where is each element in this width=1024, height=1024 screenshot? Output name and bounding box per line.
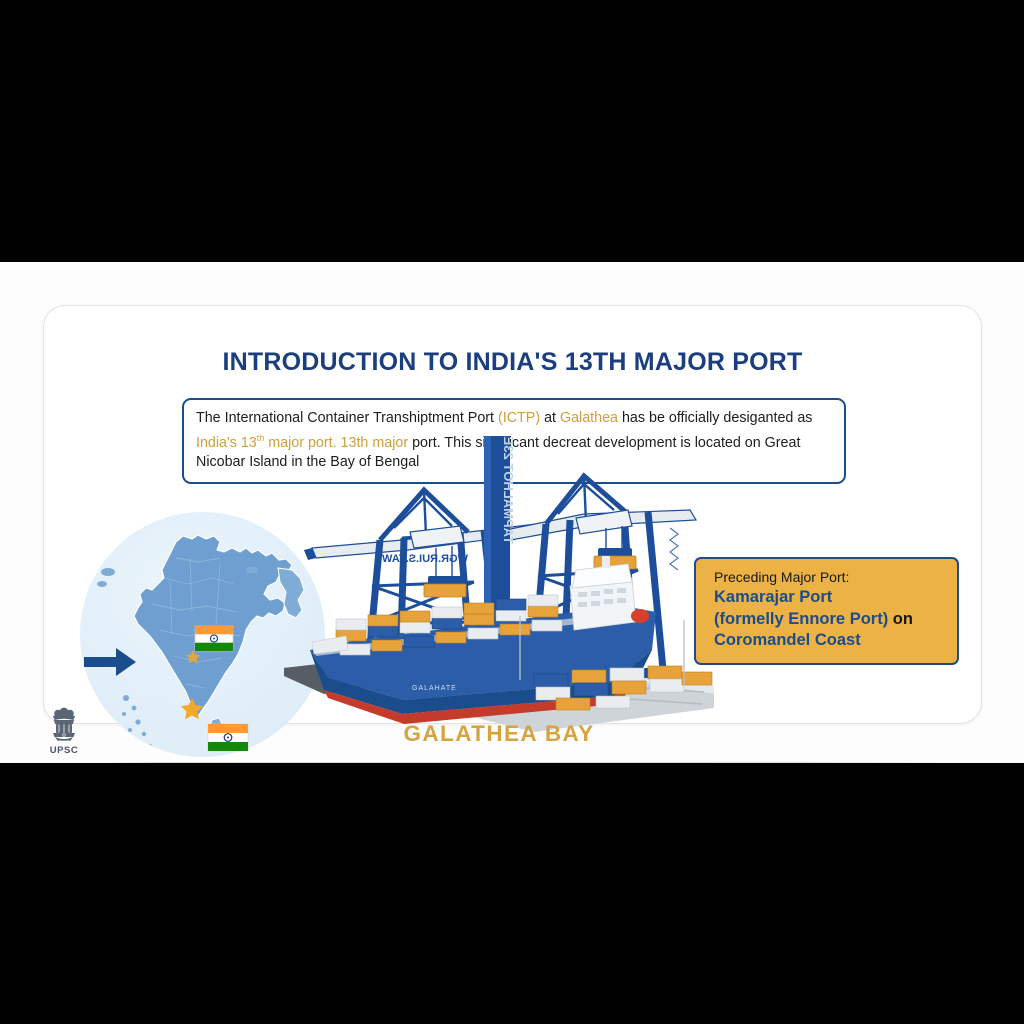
- northwest-islands: [97, 568, 115, 587]
- infographic-card: INTRODUCTION TO INDIA'S 13TH MAJOR PORT …: [43, 305, 982, 724]
- preceding-port-callout: Preceding Major Port: Kamarajar Port (fo…: [694, 557, 959, 665]
- callout-former-name: (formelly Ennore Port) on: [714, 609, 943, 631]
- ship-superstructure: [570, 556, 649, 630]
- lakshadweep-islands: [122, 695, 152, 748]
- desc-ictp: (ICTP): [498, 410, 540, 426]
- tower-label-mirrored: TAPMALHOT 23EJ8 AM: [501, 436, 516, 544]
- east-islands: [246, 567, 258, 574]
- upsc-branding: UPSC: [34, 706, 94, 756]
- upsc-label: UPSC: [34, 745, 94, 756]
- callout-coast-name: Coromandel Coast: [714, 630, 943, 652]
- desc-seg-1: The International Container Transhiptmen…: [196, 410, 498, 426]
- india-flag-secondary: [208, 724, 248, 751]
- bay-caption: GALATHEA BAY: [284, 721, 714, 747]
- callout-on-word: on: [888, 610, 913, 628]
- india-flag: [195, 626, 233, 651]
- letterbox-bar-top: [0, 0, 1024, 262]
- letterbox-bar-bottom: [0, 763, 1024, 1024]
- desc-galathea: Galathea: [560, 410, 618, 426]
- page-title: INTRODUCTION TO INDIA'S 13TH MAJOR PORT: [44, 348, 981, 377]
- slide-canvas: INTRODUCTION TO INDIA'S 13TH MAJOR PORT …: [0, 262, 1024, 763]
- crane-label-mirrored: WGR.RUI.S.TAW: [381, 553, 468, 565]
- desc-seg-3: at: [540, 410, 560, 426]
- desc-seg-5: has be officially desiganted as: [618, 410, 812, 426]
- callout-port-name: Kamarajar Port: [714, 587, 943, 609]
- footer-divider: [106, 762, 966, 763]
- port-illustration: WGR.RUI.S.TAW: [284, 436, 714, 736]
- screenshot-stage: INTRODUCTION TO INDIA'S 13TH MAJOR PORT …: [0, 0, 1024, 1024]
- desc-india-13: India's 13: [196, 434, 257, 450]
- ashoka-lion-capital-icon: [47, 706, 81, 744]
- ship-name-label: GALAHATE: [412, 685, 457, 692]
- left-pointer-arrow: [84, 648, 136, 676]
- port-scene-svg: WGR.RUI.S.TAW: [284, 436, 714, 736]
- callout-lead-label: Preceding Major Port:: [714, 568, 943, 587]
- callout-former-name-text: (formelly Ennore Port): [714, 610, 888, 628]
